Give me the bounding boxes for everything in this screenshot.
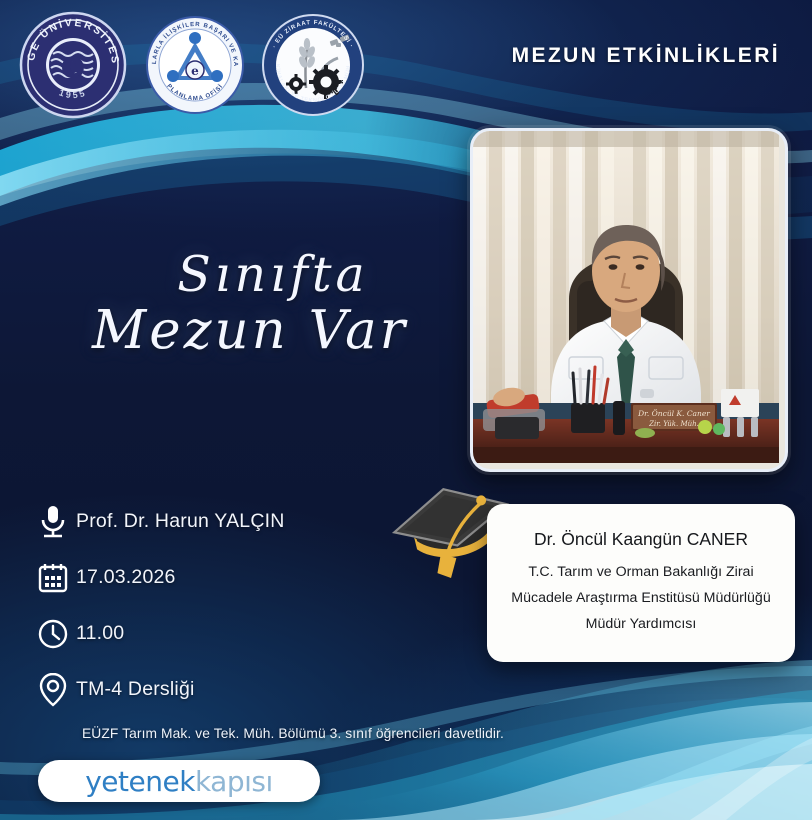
- detail-date-label: 17.03.2026: [76, 566, 176, 589]
- ziraat-fakultesi-logo: · EÜ ZİRAAT FAKÜLTESİ · TARIM MAKİNALARI…: [258, 10, 368, 120]
- page-title: MEZUN ETKİNLİKLERİ: [512, 44, 780, 68]
- speaker-affiliation-line-2: Mücadele Araştırma Enstitüsü Müdürlüğü: [511, 590, 770, 606]
- speaker-title: Müdür Yardımcısı: [586, 616, 697, 632]
- mezunlarla-iliskiler-logo: e MEZUNLARLA İLİŞKİLER BAŞARI VE KARİYER…: [142, 12, 248, 118]
- svg-text:e: e: [191, 64, 199, 78]
- headline-line-2: Mezun Var: [40, 304, 460, 358]
- location-pin-icon: [30, 672, 76, 708]
- headline-line-1: Sınıfta: [40, 250, 460, 300]
- microphone-icon: [30, 504, 76, 540]
- invitation-note: EÜZF Tarım Mak. ve Tek. Müh. Bölümü 3. s…: [82, 726, 504, 741]
- speaker-name: Dr. Öncül Kaangün CANER: [534, 529, 748, 550]
- svg-text:e: e: [62, 45, 84, 85]
- detail-host-label: Prof. Dr. Harun YALÇIN: [76, 510, 285, 533]
- event-headline: Sınıfta Mezun Var: [40, 250, 460, 358]
- detail-row-location: TM-4 Dersliği: [30, 666, 430, 713]
- speaker-info-card: Dr. Öncül Kaangün CANER T.C. Tarım ve Or…: [487, 504, 795, 662]
- calendar-icon: [30, 562, 76, 594]
- yetenekkapisi-logo: yetenekkapısı: [38, 760, 320, 802]
- detail-time-label: 11.00: [76, 622, 124, 645]
- detail-location-label: TM-4 Dersliği: [76, 678, 195, 701]
- event-poster: e EGE ÜNİVERSİTESİ 1955: [0, 0, 812, 820]
- detail-row-date: 17.03.2026: [30, 554, 430, 601]
- logo-row: e EGE ÜNİVERSİTESİ 1955: [14, 6, 368, 124]
- clock-icon: [30, 618, 76, 650]
- svg-text:Dr. Öncül K. Caner: Dr. Öncül K. Caner: [637, 409, 710, 418]
- brand-part-kapisi: kapısı: [195, 765, 273, 798]
- speaker-photo: Dr. Öncül K. Caner Zir. Yük. Müh.: [470, 128, 788, 472]
- ege-universitesi-logo: e EGE ÜNİVERSİTESİ 1955: [14, 6, 132, 124]
- event-details-list: Prof. Dr. Harun YALÇIN: [30, 498, 430, 722]
- detail-row-time: 11.00: [30, 610, 430, 657]
- detail-row-host: Prof. Dr. Harun YALÇIN: [30, 498, 430, 545]
- speaker-affiliation-line-1: T.C. Tarım ve Orman Bakanlığı Zirai: [528, 564, 753, 580]
- svg-text:Zir. Yük. Müh.: Zir. Yük. Müh.: [648, 420, 699, 428]
- brand-part-yetenek: yetenek: [85, 765, 195, 798]
